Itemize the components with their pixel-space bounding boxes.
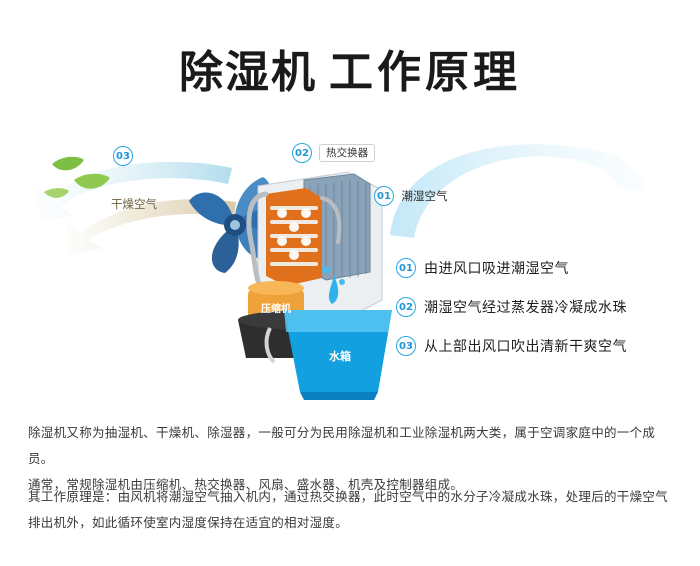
badge-01: 01 [374,186,394,206]
step-badge-01: 01 [396,258,416,278]
compressor-label: 压缩机 [250,300,302,315]
step-badge-02: 02 [396,297,416,317]
tag-heat-exchanger: 02 热交换器 [292,142,373,163]
tag-dry-air: 干燥空气 [111,196,157,212]
tag-dry-air-badge: 03 [113,146,133,166]
steps-list: 01 由进风口吸进潮湿空气 02 潮湿空气经过蒸发器冷凝成水珠 03 从上部出风… [396,258,686,375]
description-paragraph-2: 其工作原理是：由风机将潮湿空气抽入机内，通过热交换器，此时空气中的水分子冷凝成水… [28,484,678,536]
water-tank-label: 水箱 [312,348,368,364]
page-title: 除湿机工作原理 [0,36,700,100]
badge-03: 03 [113,146,133,166]
badge-02: 02 [292,143,312,163]
paragraph-2-line-2: 排出机外，如此循环使室内湿度保持在适宜的相对湿度。 [28,510,678,536]
tag-dry-air-label: 干燥空气 [111,197,157,211]
title-main: 除湿机 [179,47,317,98]
step-text-03: 从上部出风口吹出清新干爽空气 [424,336,627,356]
tag-humid-air-label: 潮湿空气 [402,189,448,203]
title-sub: 工作原理 [329,47,521,98]
tag-humid-air: 01 潮湿空气 [374,186,448,206]
step-item: 02 潮湿空气经过蒸发器冷凝成水珠 [396,297,686,317]
step-item: 03 从上部出风口吹出清新干爽空气 [396,336,686,356]
step-badge-03: 03 [396,336,416,356]
paragraph-1-line-1: 除湿机又称为抽湿机、干燥机、除湿器，一般可分为民用除湿机和工业除湿机两大类，属于… [28,420,678,472]
paragraph-2-line-1: 其工作原理是：由风机将潮湿空气抽入机内，通过热交换器，此时空气中的水分子冷凝成水… [28,484,678,510]
step-text-01: 由进风口吸进潮湿空气 [424,258,569,278]
step-item: 01 由进风口吸进潮湿空气 [396,258,686,278]
diagram-stage: 压缩机 水箱 02 热交换器 01 潮湿空气 03 干燥空气 01 由进风口吸进… [0,120,700,410]
tag-heat-exchanger-label: 热交换器 [319,144,375,162]
step-text-02: 潮湿空气经过蒸发器冷凝成水珠 [424,297,627,317]
